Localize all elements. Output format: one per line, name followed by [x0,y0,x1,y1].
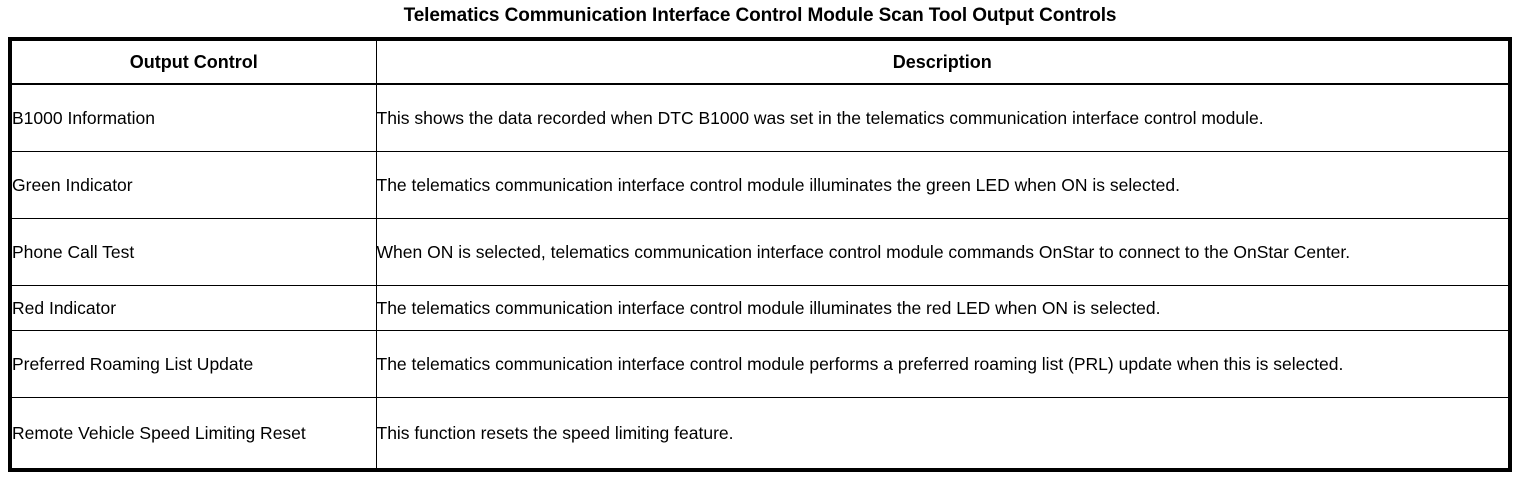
table-row: Phone Call Test When ON is selected, tel… [12,219,1508,286]
column-header-description: Description [376,41,1508,84]
page-title: Telematics Communication Interface Contr… [0,0,1520,37]
cell-description: The telematics communication interface c… [376,331,1508,398]
output-controls-table: Output Control Description B1000 Informa… [12,41,1508,468]
table-row: Preferred Roaming List Update The telema… [12,331,1508,398]
cell-output-control: Remote Vehicle Speed Limiting Reset [12,398,376,469]
document-page: Telematics Communication Interface Contr… [0,0,1520,498]
table-body: B1000 Information This shows the data re… [12,84,1508,468]
cell-description: When ON is selected, telematics communic… [376,219,1508,286]
table-row: Green Indicator The telematics communica… [12,152,1508,219]
cell-output-control: Green Indicator [12,152,376,219]
cell-output-control: Red Indicator [12,286,376,331]
table-row: Remote Vehicle Speed Limiting Reset This… [12,398,1508,469]
cell-output-control: B1000 Information [12,84,376,152]
table-header-row: Output Control Description [12,41,1508,84]
cell-description: This shows the data recorded when DTC B1… [376,84,1508,152]
cell-description: The telematics communication interface c… [376,286,1508,331]
table-row: B1000 Information This shows the data re… [12,84,1508,152]
cell-description: The telematics communication interface c… [376,152,1508,219]
column-header-output-control: Output Control [12,41,376,84]
cell-description: This function resets the speed limiting … [376,398,1508,469]
cell-output-control: Phone Call Test [12,219,376,286]
table-row: Red Indicator The telematics communicati… [12,286,1508,331]
table-header: Output Control Description [12,41,1508,84]
cell-output-control: Preferred Roaming List Update [12,331,376,398]
output-controls-table-frame: Output Control Description B1000 Informa… [8,37,1512,472]
